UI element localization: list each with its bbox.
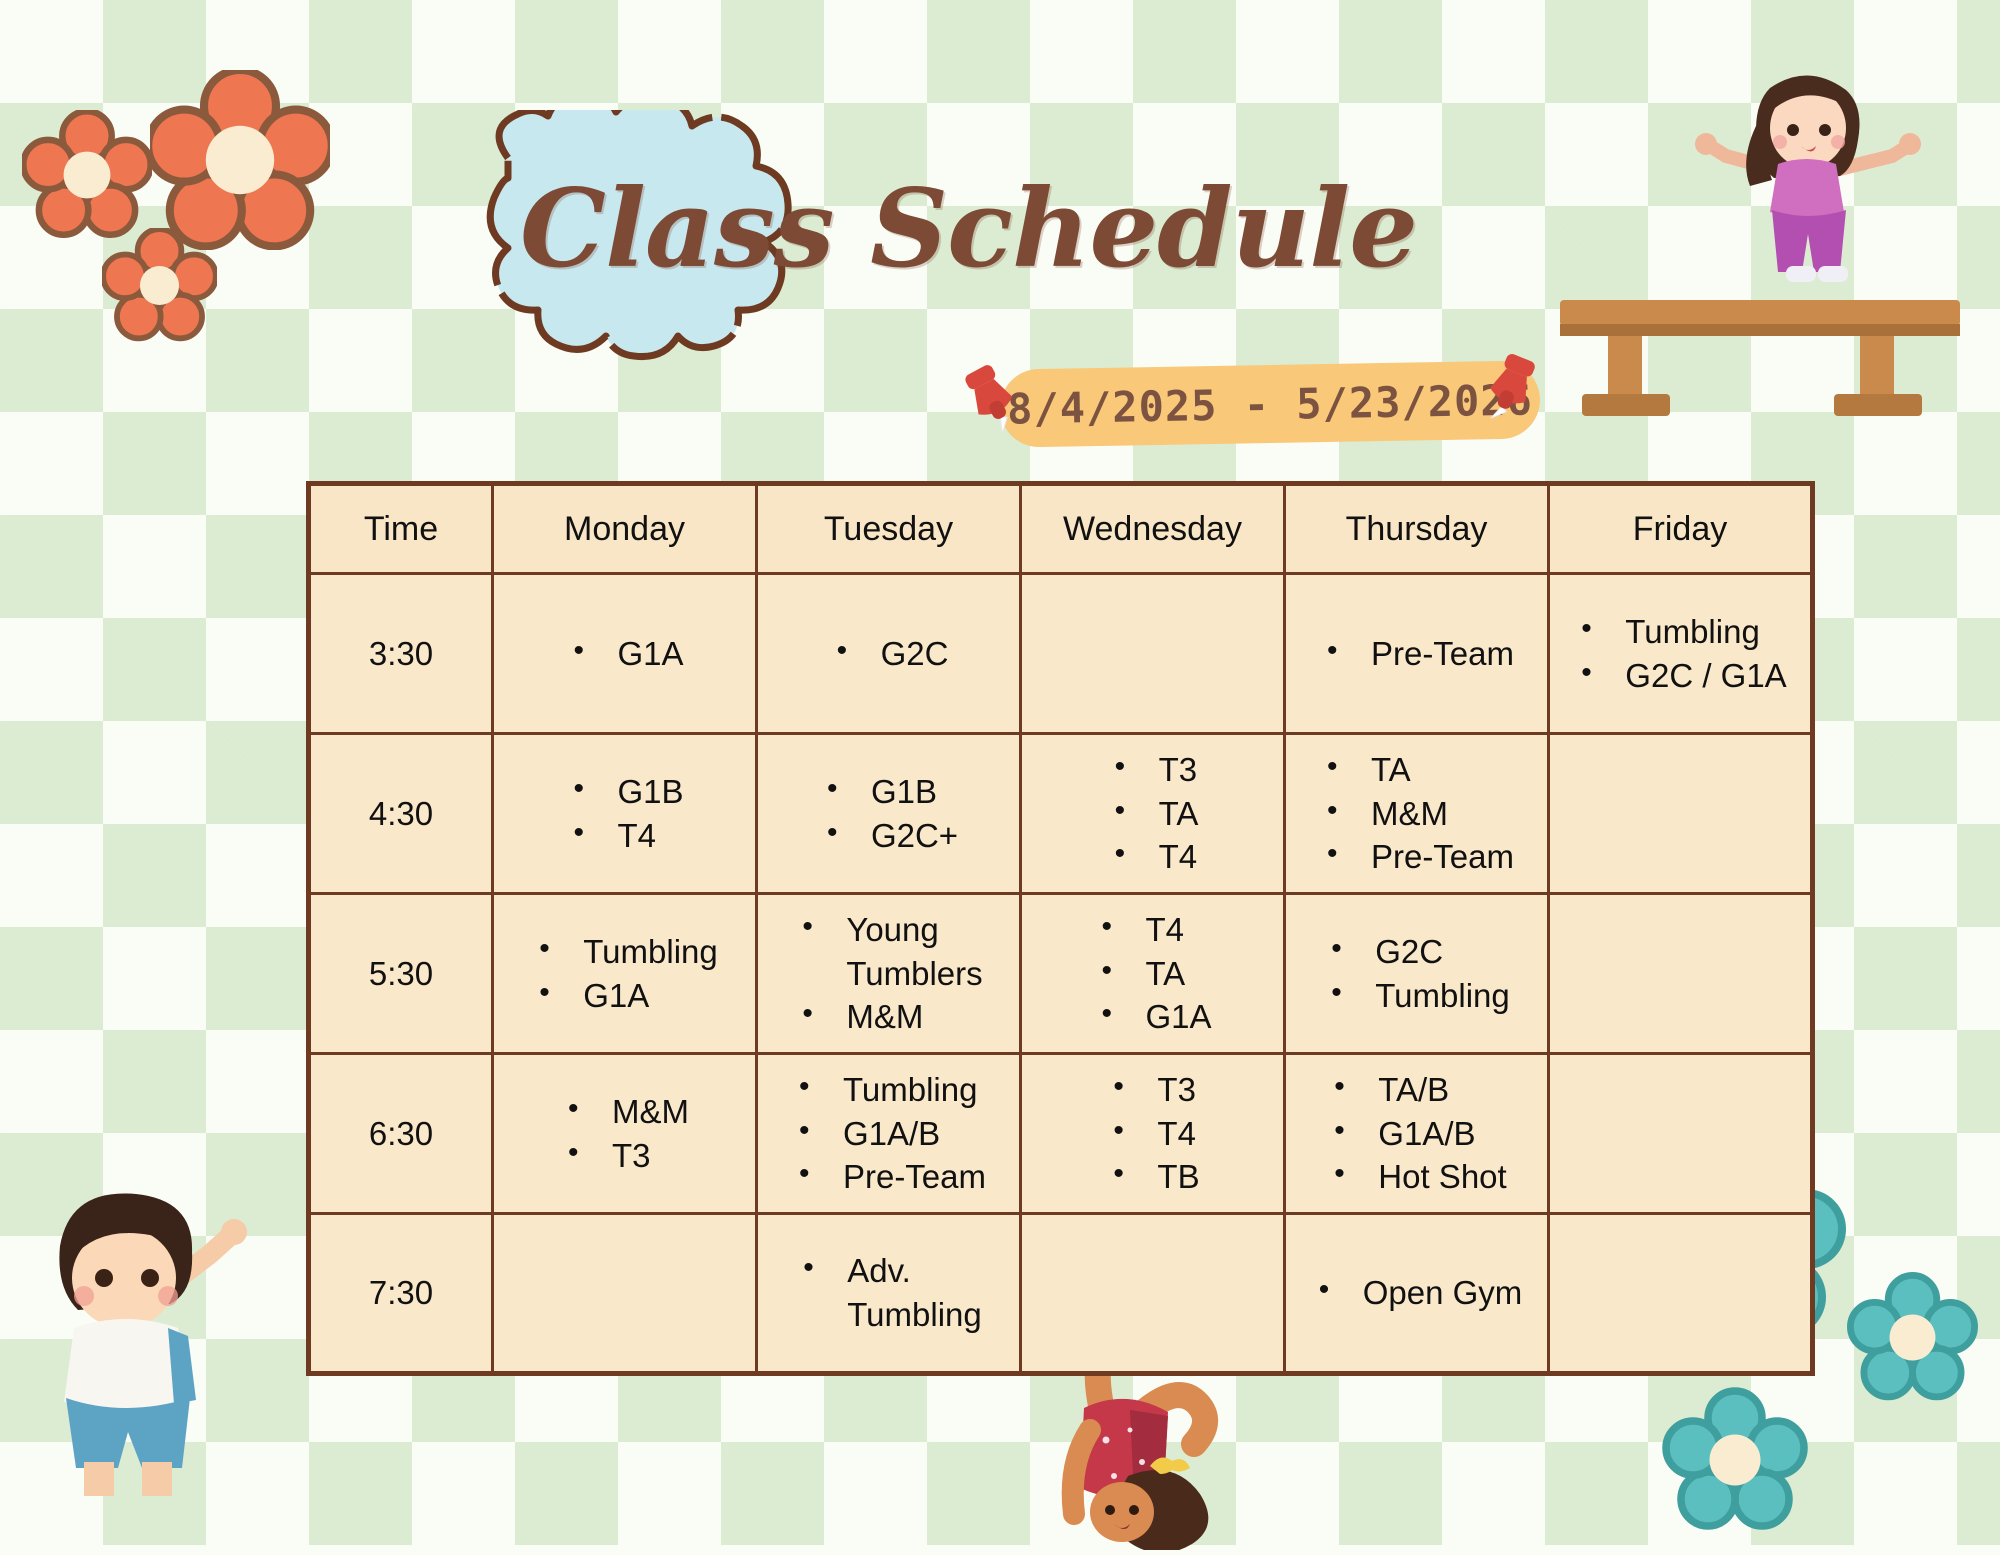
class-list: TumblingG2C / G1A bbox=[1573, 610, 1786, 698]
class-item: G2C bbox=[1323, 930, 1510, 974]
class-item: Open Gym bbox=[1311, 1271, 1523, 1315]
class-item: Adv.Tumbling bbox=[795, 1249, 982, 1337]
class-list: G1BT4 bbox=[565, 770, 683, 858]
class-item: Tumbling bbox=[1323, 974, 1510, 1018]
time-cell: 7:30 bbox=[309, 1214, 493, 1374]
schedule-cell-tuesday: G2C bbox=[757, 574, 1021, 734]
schedule-cell-friday bbox=[1549, 1214, 1813, 1374]
schedule-cell-thursday: TA/BG1A/BHot Shot bbox=[1285, 1054, 1549, 1214]
class-item: T4 bbox=[1093, 908, 1211, 952]
class-list: TumblingG1A/BPre-Team bbox=[791, 1068, 986, 1200]
schedule-cell-tuesday: YoungTumblersM&M bbox=[757, 894, 1021, 1054]
class-schedule-table: Time Monday Tuesday Wednesday Thursday F… bbox=[306, 481, 1815, 1376]
class-item: G1B bbox=[819, 770, 958, 814]
class-item: G2C / G1A bbox=[1573, 654, 1786, 698]
class-list: TumblingG1A bbox=[531, 930, 718, 1018]
class-list: G1BG2C+ bbox=[819, 770, 958, 858]
table-row: 4:30G1BT4G1BG2C+T3TAT4TAM&MPre-Team bbox=[309, 734, 1813, 894]
class-list: TAM&MPre-Team bbox=[1319, 748, 1514, 880]
column-header-tuesday: Tuesday bbox=[757, 484, 1021, 574]
class-item: TA bbox=[1319, 748, 1514, 792]
schedule-cell-tuesday: TumblingG1A/BPre-Team bbox=[757, 1054, 1021, 1214]
schedule-cell-wednesday bbox=[1021, 574, 1285, 734]
class-list: G1A bbox=[565, 632, 683, 676]
schedule-cell-thursday: G2CTumbling bbox=[1285, 894, 1549, 1054]
class-item: Tumbling bbox=[791, 1068, 986, 1112]
time-cell: 5:30 bbox=[309, 894, 493, 1054]
class-list: T4TAG1A bbox=[1093, 908, 1211, 1040]
class-item: Pre-Team bbox=[791, 1155, 986, 1199]
class-item: T3 bbox=[1105, 1068, 1199, 1112]
schedule-cell-wednesday: T3TAT4 bbox=[1021, 734, 1285, 894]
class-list: Pre-Team bbox=[1319, 632, 1514, 676]
schedule-cell-wednesday: T4TAG1A bbox=[1021, 894, 1285, 1054]
class-item: T3 bbox=[560, 1134, 689, 1178]
column-header-time: Time bbox=[309, 484, 493, 574]
schedule-cell-friday: TumblingG2C / G1A bbox=[1549, 574, 1813, 734]
table-row: 5:30TumblingG1AYoungTumblersM&MT4TAG1AG2… bbox=[309, 894, 1813, 1054]
table-body: 3:30G1AG2CPre-TeamTumblingG2C / G1A4:30G… bbox=[309, 574, 1813, 1374]
schedule-cell-tuesday: G1BG2C+ bbox=[757, 734, 1021, 894]
class-item: TB bbox=[1105, 1155, 1199, 1199]
schedule-cell-friday bbox=[1549, 734, 1813, 894]
schedule-cell-thursday: Pre-Team bbox=[1285, 574, 1549, 734]
class-item: TA/B bbox=[1326, 1068, 1506, 1112]
class-item: G1A bbox=[565, 632, 683, 676]
schedule-cell-friday bbox=[1549, 1054, 1813, 1214]
class-list: T3TAT4 bbox=[1107, 748, 1199, 880]
column-header-monday: Monday bbox=[493, 484, 757, 574]
table-row: 7:30Adv.TumblingOpen Gym bbox=[309, 1214, 1813, 1374]
class-item: G2C bbox=[829, 632, 949, 676]
table-row: 6:30M&MT3TumblingG1A/BPre-TeamT3T4TBTA/B… bbox=[309, 1054, 1813, 1214]
class-list: M&MT3 bbox=[560, 1090, 689, 1178]
class-item: Tumbling bbox=[1573, 610, 1786, 654]
schedule-cell-thursday: Open Gym bbox=[1285, 1214, 1549, 1374]
class-list: G2C bbox=[829, 632, 949, 676]
column-header-friday: Friday bbox=[1549, 484, 1813, 574]
class-item: G2C+ bbox=[819, 814, 958, 858]
class-item: G1A/B bbox=[1326, 1112, 1506, 1156]
class-item: G1A bbox=[1093, 995, 1211, 1039]
time-cell: 3:30 bbox=[309, 574, 493, 734]
schedule-cell-monday: TumblingG1A bbox=[493, 894, 757, 1054]
class-item: YoungTumblers bbox=[794, 908, 982, 996]
class-item: TA bbox=[1093, 952, 1211, 996]
class-list: T3T4TB bbox=[1105, 1068, 1199, 1200]
schedule-cell-friday bbox=[1549, 894, 1813, 1054]
time-cell: 4:30 bbox=[309, 734, 493, 894]
class-list: G2CTumbling bbox=[1323, 930, 1510, 1018]
column-header-wednesday: Wednesday bbox=[1021, 484, 1285, 574]
class-item: Pre-Team bbox=[1319, 835, 1514, 879]
schedule-cell-thursday: TAM&MPre-Team bbox=[1285, 734, 1549, 894]
table-row: 3:30G1AG2CPre-TeamTumblingG2C / G1A bbox=[309, 574, 1813, 734]
class-item: G1A/B bbox=[791, 1112, 986, 1156]
class-item: Tumbling bbox=[531, 930, 718, 974]
schedule-cell-monday: G1A bbox=[493, 574, 757, 734]
schedule-cell-monday bbox=[493, 1214, 757, 1374]
class-item: Hot Shot bbox=[1326, 1155, 1506, 1199]
class-list: Adv.Tumbling bbox=[795, 1249, 982, 1337]
table-header-row: Time Monday Tuesday Wednesday Thursday F… bbox=[309, 484, 1813, 574]
class-item: T4 bbox=[1105, 1112, 1199, 1156]
class-item: T3 bbox=[1107, 748, 1199, 792]
class-item: T4 bbox=[1107, 835, 1199, 879]
time-cell: 6:30 bbox=[309, 1054, 493, 1214]
page-title: Class Schedule bbox=[520, 175, 1520, 283]
class-item: G1A bbox=[531, 974, 718, 1018]
schedule-cell-tuesday: Adv.Tumbling bbox=[757, 1214, 1021, 1374]
class-item: TA bbox=[1107, 792, 1199, 836]
table-header: Time Monday Tuesday Wednesday Thursday F… bbox=[309, 484, 1813, 574]
class-item: Pre-Team bbox=[1319, 632, 1514, 676]
class-item: M&M bbox=[560, 1090, 689, 1134]
schedule-cell-wednesday: T3T4TB bbox=[1021, 1054, 1285, 1214]
class-item: M&M bbox=[794, 995, 982, 1039]
schedule-cell-monday: M&MT3 bbox=[493, 1054, 757, 1214]
class-list: Open Gym bbox=[1311, 1271, 1523, 1315]
class-list: YoungTumblersM&M bbox=[794, 908, 982, 1040]
schedule-cell-monday: G1BT4 bbox=[493, 734, 757, 894]
date-range-text: 8/4/2025 - 5/23/2026 bbox=[1007, 375, 1534, 433]
date-range-banner: 8/4/2025 - 5/23/2026 bbox=[999, 360, 1540, 447]
class-list: TA/BG1A/BHot Shot bbox=[1326, 1068, 1506, 1200]
class-item: G1B bbox=[565, 770, 683, 814]
class-item: T4 bbox=[565, 814, 683, 858]
class-item: M&M bbox=[1319, 792, 1514, 836]
column-header-thursday: Thursday bbox=[1285, 484, 1549, 574]
schedule-cell-wednesday bbox=[1021, 1214, 1285, 1374]
